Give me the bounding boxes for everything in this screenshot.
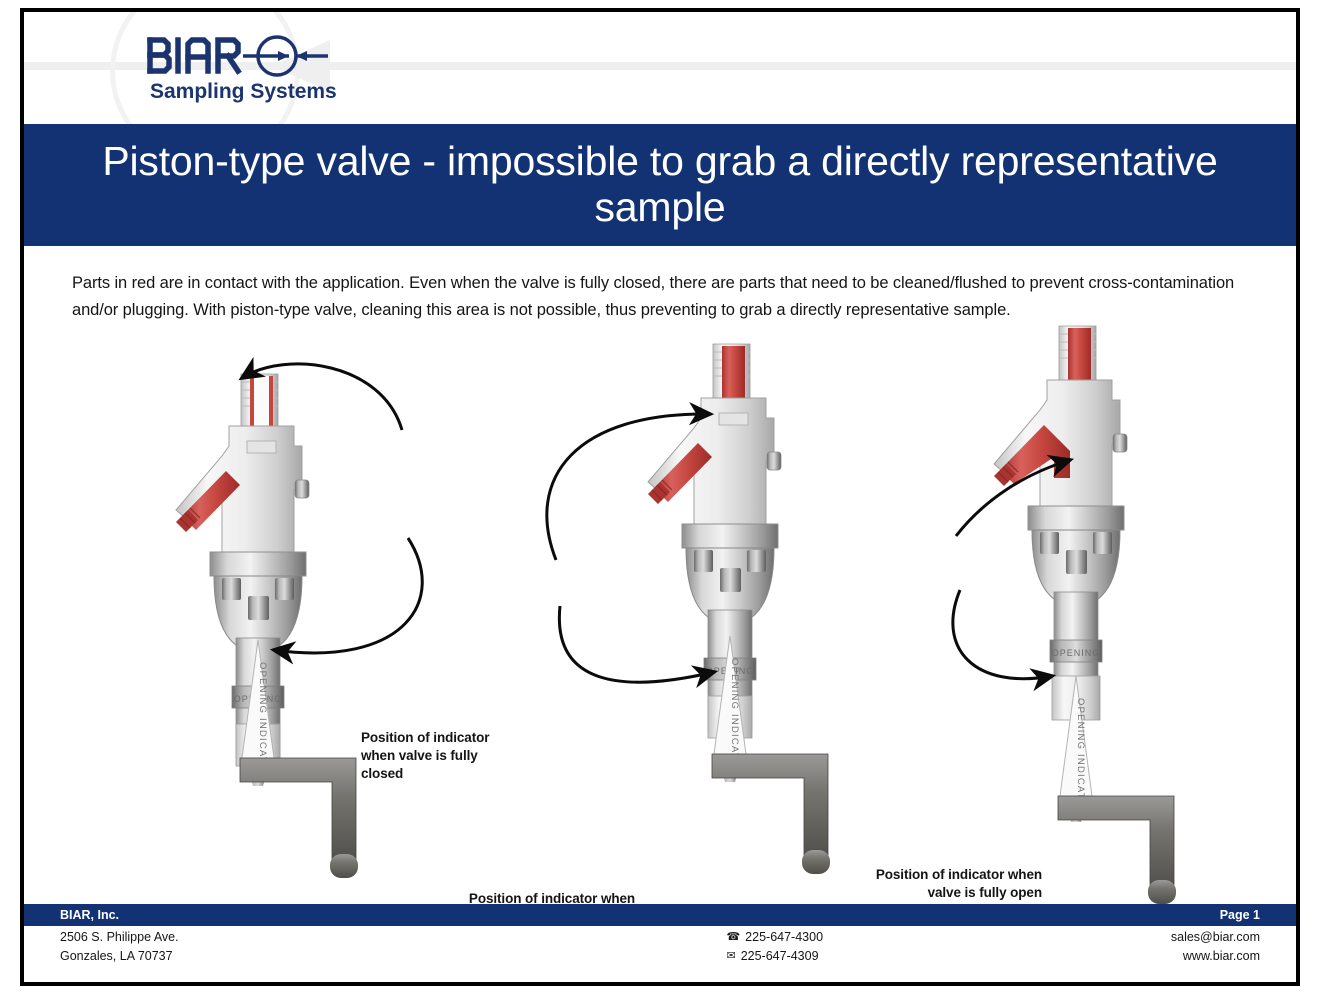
footer-address-line2: Gonzales, LA 70737 — [60, 949, 179, 963]
valve-closed: OPENING OPENING INDICATOR — [176, 364, 422, 878]
footer-contact-info: 2506 S. Philippe Ave. Gonzales, LA 70737… — [24, 926, 1296, 978]
footer-bar: BIAR, Inc. Page 1 — [24, 904, 1296, 926]
footer-address: 2506 S. Philippe Ave. Gonzales, LA 70737 — [60, 930, 179, 978]
valve-illustrations: OPENING OPENING INDICATOR — [24, 338, 1296, 926]
footer-web-block: sales@biar.com www.biar.com — [1171, 930, 1260, 978]
valve-beginning-to-open: OPENING OPENING INDICATOR — [648, 344, 830, 874]
fax-icon: ✉ — [726, 951, 735, 962]
footer-address-line1: 2506 S. Philippe Ave. — [60, 930, 179, 944]
valve-diagram-area: OPENING OPENING INDICATOR — [24, 338, 1296, 926]
callout-valve-fully-open: Position of indicator when valve is full… — [852, 866, 1042, 902]
arrow-opening-indicator — [559, 606, 714, 682]
callout-valve-closed: Position of indicator when valve is full… — [361, 729, 521, 782]
biar-logo[interactable]: Sampling Systems — [144, 30, 344, 112]
footer-phone: 225-647-4300 — [745, 930, 823, 944]
footer-fax: 225-647-4309 — [741, 949, 819, 963]
telephone-icon: ☎ — [726, 932, 740, 943]
page-header: Sampling Systems — [24, 12, 1296, 124]
page-title: Piston-type valve - impossible to grab a… — [84, 139, 1236, 231]
footer-fax-line: ✉ 225-647-4309 — [726, 949, 823, 963]
footer-email[interactable]: sales@biar.com — [1171, 930, 1260, 944]
footer-phone-line: ☎ 225-647-4300 — [726, 930, 823, 944]
valve-fully-open: OPENING OPENING INDICATOR — [994, 326, 1176, 904]
biar-logo-icon: Sampling Systems — [144, 30, 344, 112]
svg-text:OPENING: OPENING — [1052, 648, 1101, 658]
footer-phone-block: ☎ 225-647-4300 ✉ 225-647-4309 — [726, 930, 823, 978]
page-frame: Sampling Systems Piston-type valve - imp… — [20, 8, 1300, 986]
title-banner: Piston-type valve - impossible to grab a… — [24, 124, 1296, 246]
body-paragraph: Parts in red are in contact with the app… — [72, 270, 1262, 324]
arrow-open-indicator — [953, 590, 1052, 679]
slide-page: Sampling Systems Piston-type valve - imp… — [0, 0, 1320, 996]
footer-company: BIAR, Inc. — [60, 908, 119, 922]
footer-website[interactable]: www.biar.com — [1171, 949, 1260, 963]
footer-page-number: Page 1 — [1220, 908, 1260, 922]
logo-tagline: Sampling Systems — [150, 80, 337, 103]
